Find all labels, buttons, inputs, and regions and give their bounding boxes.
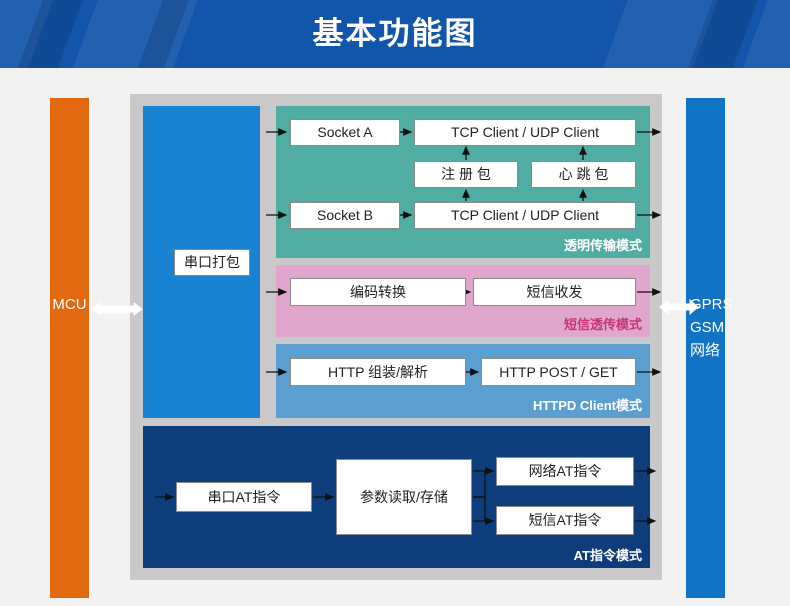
page-title: 基本功能图 — [0, 0, 790, 68]
mcu-label: MCU — [50, 296, 89, 313]
box-serial-packing: 串口打包 — [174, 249, 250, 276]
box-socket-a: Socket A — [290, 119, 400, 146]
box-http-assemble-parse: HTTP 组装/解析 — [290, 358, 466, 386]
panel-httpd-label: HTTPD Client模式 — [533, 395, 642, 414]
box-serial-at-command: 串口AT指令 — [176, 482, 312, 512]
network-label-line3: 网络 — [690, 339, 754, 362]
network-label-line2: GSM — [690, 316, 754, 339]
box-register-packet: 注 册 包 — [414, 161, 518, 188]
box-encode-convert: 编码转换 — [290, 278, 466, 306]
box-sms-at-command: 短信AT指令 — [496, 506, 634, 535]
uart-label: UART — [96, 303, 129, 317]
diagram-page: 基本功能图 MCU GPRS GSM 网络 透明传输模式 短信透传模式 HTTP… — [0, 0, 790, 606]
network-label-line1: GPRS — [690, 293, 754, 316]
panel-at-label: AT指令模式 — [574, 545, 642, 564]
mcu-bar — [50, 98, 89, 598]
box-param-read-store: 参数读取/存储 — [336, 459, 472, 535]
panel-transparent-label: 透明传输模式 — [564, 235, 642, 254]
panel-sms-label: 短信透传模式 — [564, 314, 642, 333]
header-banner: 基本功能图 — [0, 0, 790, 68]
box-heartbeat-packet: 心 跳 包 — [531, 161, 636, 188]
box-sms-send-receive: 短信收发 — [473, 278, 636, 306]
box-socket-b: Socket B — [290, 202, 400, 229]
box-tcp-udp-client-2: TCP Client / UDP Client — [414, 202, 636, 229]
box-tcp-udp-client-1: TCP Client / UDP Client — [414, 119, 636, 146]
network-label: GPRS GSM 网络 — [690, 293, 754, 362]
box-network-at-command: 网络AT指令 — [496, 457, 634, 486]
box-http-post-get: HTTP POST / GET — [481, 358, 636, 386]
